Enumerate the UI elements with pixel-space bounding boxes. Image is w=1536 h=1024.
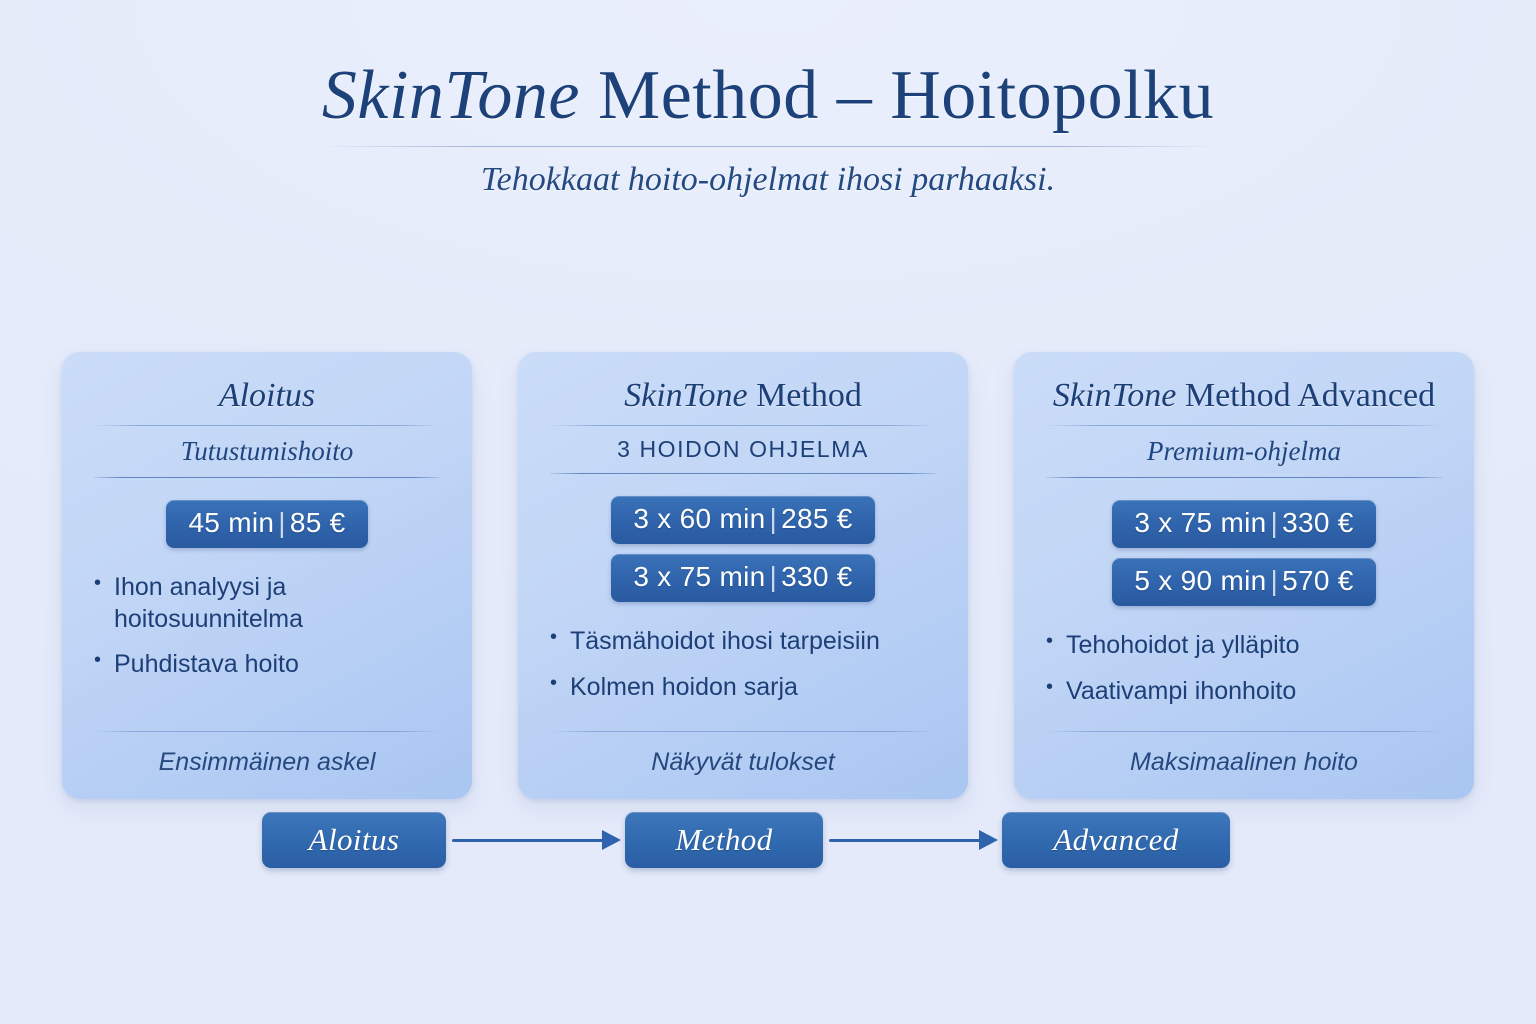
card-title-brand: SkinTone bbox=[624, 377, 747, 414]
card-footer-divider bbox=[1046, 731, 1442, 732]
page-subtitle: Tehokkaat hoito-ohjelmat ihosi parhaaksi… bbox=[0, 161, 1536, 199]
pricing-card-skintone-method[interactable]: SkinTone Method 3 HOIDON OHJELMA 3 x 60 … bbox=[518, 352, 968, 799]
card-feature-list: Ihon analyysi ja hoitosuunnitelma Puhdis… bbox=[88, 572, 446, 694]
arrow-right-icon bbox=[827, 830, 998, 850]
arrow-head bbox=[602, 830, 621, 850]
list-item: Puhdistava hoito bbox=[94, 649, 446, 680]
list-item: Täsmähoidot ihosi tarpeisiin bbox=[550, 626, 942, 657]
flow-step-label: Method bbox=[675, 822, 772, 858]
price-pill[interactable]: 3 x 75 min|330 € bbox=[1112, 500, 1375, 548]
arrow-shaft bbox=[829, 839, 982, 842]
pricing-card-aloitus[interactable]: Aloitus Tutustumishoito 45 min|85 € Ihon… bbox=[62, 352, 472, 799]
card-title-divider bbox=[550, 425, 936, 426]
card-footer-wrap: Ensimmäinen askel bbox=[88, 721, 446, 779]
flow-step-label: Advanced bbox=[1053, 822, 1178, 858]
price-pill-price: 330 € bbox=[1282, 507, 1354, 538]
price-pill[interactable]: 5 x 90 min|570 € bbox=[1112, 558, 1375, 606]
flow-step-advanced[interactable]: Advanced bbox=[1002, 812, 1230, 868]
card-title-divider bbox=[1046, 425, 1442, 426]
arrow-shaft bbox=[452, 839, 605, 842]
price-pill-separator: | bbox=[766, 561, 782, 592]
price-pill-duration: 5 x 90 min bbox=[1134, 565, 1266, 596]
price-pill-duration: 3 x 60 min bbox=[633, 503, 765, 534]
flow-step-label: Aloitus bbox=[309, 822, 400, 858]
card-title-rest: Method bbox=[748, 377, 862, 414]
title-divider bbox=[318, 146, 1218, 147]
list-item: Vaativampi ihonhoito bbox=[1046, 676, 1448, 707]
card-subtitle-divider bbox=[550, 473, 936, 474]
flow-step-aloitus[interactable]: Aloitus bbox=[262, 812, 446, 868]
price-pill-duration: 3 x 75 min bbox=[633, 561, 765, 592]
price-pill[interactable]: 3 x 75 min|330 € bbox=[611, 554, 874, 602]
card-footer-divider bbox=[94, 731, 440, 732]
page-title-rest: Method – Hoitopolku bbox=[580, 57, 1214, 134]
poster-header: SkinTone Method – Hoitopolku Tehokkaat h… bbox=[0, 58, 1536, 199]
card-subtitle: 3 HOIDON OHJELMA bbox=[544, 436, 942, 463]
price-pill-price: 330 € bbox=[781, 561, 853, 592]
page-title: SkinTone Method – Hoitopolku bbox=[0, 58, 1536, 134]
price-pill-duration: 3 x 75 min bbox=[1134, 507, 1266, 538]
pricing-cards-row: Aloitus Tutustumishoito 45 min|85 € Ihon… bbox=[62, 352, 1474, 799]
card-title-brand: SkinTone bbox=[1053, 377, 1176, 414]
poster-canvas: SkinTone Method – Hoitopolku Tehokkaat h… bbox=[0, 0, 1536, 1024]
list-item: Tehohoidot ja ylläpito bbox=[1046, 630, 1448, 661]
price-pill-separator: | bbox=[766, 503, 782, 534]
price-pill[interactable]: 3 x 60 min|285 € bbox=[611, 496, 874, 544]
card-footer-wrap: Näkyvät tulokset bbox=[544, 721, 942, 779]
price-pill-price: 570 € bbox=[1282, 565, 1354, 596]
price-pill-group: 45 min|85 € bbox=[88, 500, 446, 548]
card-title-rest: Method Advanced bbox=[1176, 377, 1435, 414]
card-subtitle: Tutustumishoito bbox=[88, 436, 446, 467]
card-footer-text: Maksimaalinen hoito bbox=[1040, 748, 1448, 777]
list-item: Kolmen hoidon sarja bbox=[550, 672, 942, 703]
price-pill-separator: | bbox=[274, 507, 290, 538]
price-pill-price: 85 € bbox=[290, 507, 346, 538]
card-subtitle-divider bbox=[1046, 477, 1442, 478]
treatment-path-flow: Aloitus Method Advanced bbox=[262, 811, 1230, 869]
price-pill-separator: | bbox=[1267, 507, 1283, 538]
card-subtitle: Premium-ohjelma bbox=[1040, 436, 1448, 467]
card-title: SkinTone Method bbox=[544, 376, 942, 415]
card-feature-list: Tehohoidot ja ylläpito Vaativampi ihonho… bbox=[1040, 630, 1448, 721]
card-feature-list: Täsmähoidot ihosi tarpeisiin Kolmen hoid… bbox=[544, 626, 942, 717]
price-pill-price: 285 € bbox=[781, 503, 853, 534]
arrow-head bbox=[979, 830, 998, 850]
price-pill-duration: 45 min bbox=[188, 507, 274, 538]
price-pill-group: 3 x 75 min|330 € 5 x 90 min|570 € bbox=[1040, 500, 1448, 606]
arrow-right-icon bbox=[450, 830, 621, 850]
card-footer-text: Näkyvät tulokset bbox=[544, 748, 942, 777]
card-title: SkinTone Method Advanced bbox=[1040, 376, 1448, 415]
card-footer-divider bbox=[550, 731, 936, 732]
card-footer-text: Ensimmäinen askel bbox=[88, 748, 446, 777]
card-title-divider bbox=[94, 425, 440, 426]
card-title: Aloitus bbox=[88, 376, 446, 415]
price-pill[interactable]: 45 min|85 € bbox=[166, 500, 367, 548]
card-title-rest: Aloitus bbox=[219, 377, 315, 414]
pricing-card-skintone-method-advanced[interactable]: SkinTone Method Advanced Premium-ohjelma… bbox=[1014, 352, 1474, 799]
price-pill-group: 3 x 60 min|285 € 3 x 75 min|330 € bbox=[544, 496, 942, 602]
page-title-brand: SkinTone bbox=[322, 57, 580, 134]
price-pill-separator: | bbox=[1267, 565, 1283, 596]
card-subtitle-divider bbox=[94, 477, 440, 478]
flow-step-method[interactable]: Method bbox=[625, 812, 823, 868]
list-item: Ihon analyysi ja hoitosuunnitelma bbox=[94, 572, 446, 635]
card-footer-wrap: Maksimaalinen hoito bbox=[1040, 721, 1448, 779]
